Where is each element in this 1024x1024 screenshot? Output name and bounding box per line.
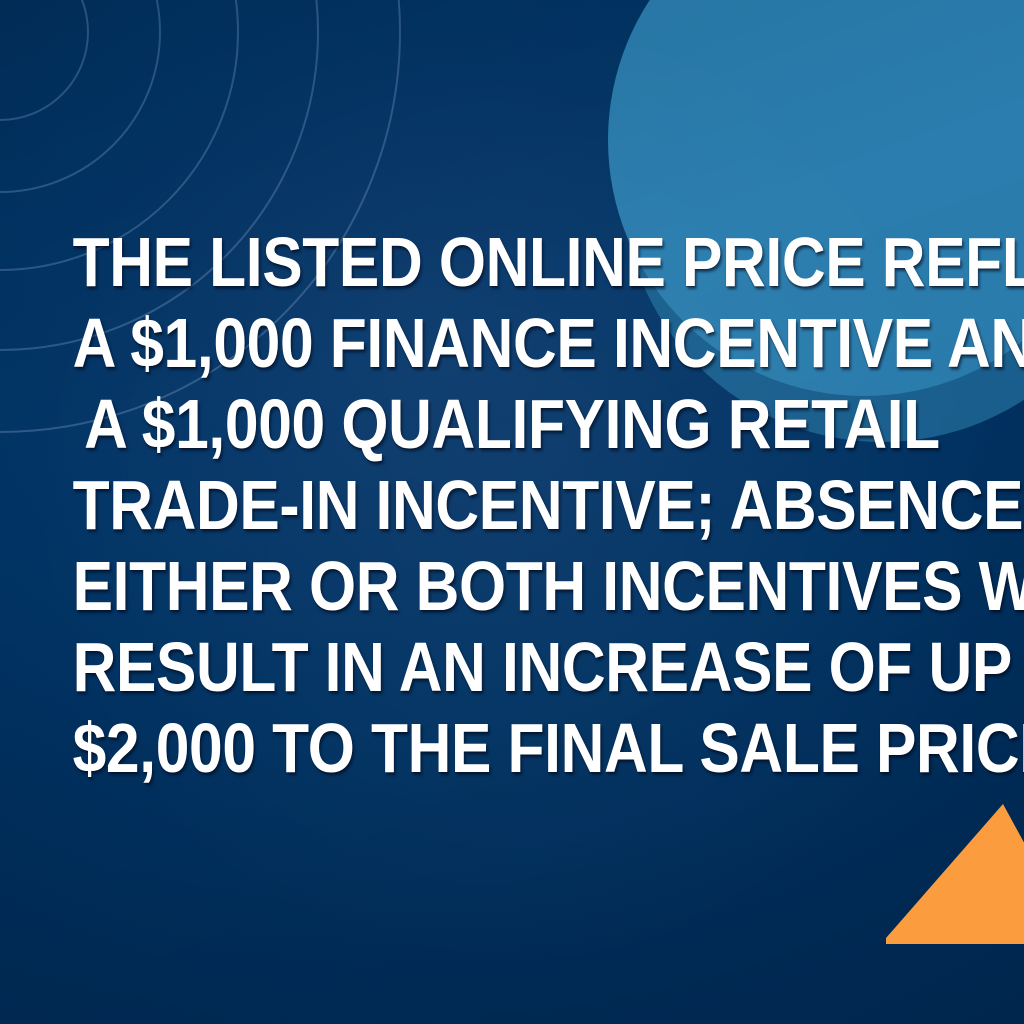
headline-line-1: THE LISTED ONLINE PRICE REFLECTS bbox=[73, 222, 952, 303]
headline-line-4: TRADE-IN INCENTIVE; ABSENCE OF bbox=[73, 465, 952, 546]
headline-line-6: RESULT IN AN INCREASE OF UP TO bbox=[73, 627, 952, 708]
headline-line-7: $2,000 TO THE FINAL SALE PRICE. bbox=[73, 708, 952, 789]
headline-line-5: EITHER OR BOTH INCENTIVES WILL bbox=[73, 546, 952, 627]
headline-line-2: A $1,000 FINANCE INCENTIVE AND bbox=[73, 303, 952, 384]
disclaimer-graphic: THE LISTED ONLINE PRICE REFLECTS A $1,00… bbox=[0, 0, 1024, 1024]
headline-line-3: A $1,000 QUALIFYING RETAIL bbox=[73, 384, 952, 465]
headline-text-block: THE LISTED ONLINE PRICE REFLECTS A $1,00… bbox=[0, 222, 1024, 789]
